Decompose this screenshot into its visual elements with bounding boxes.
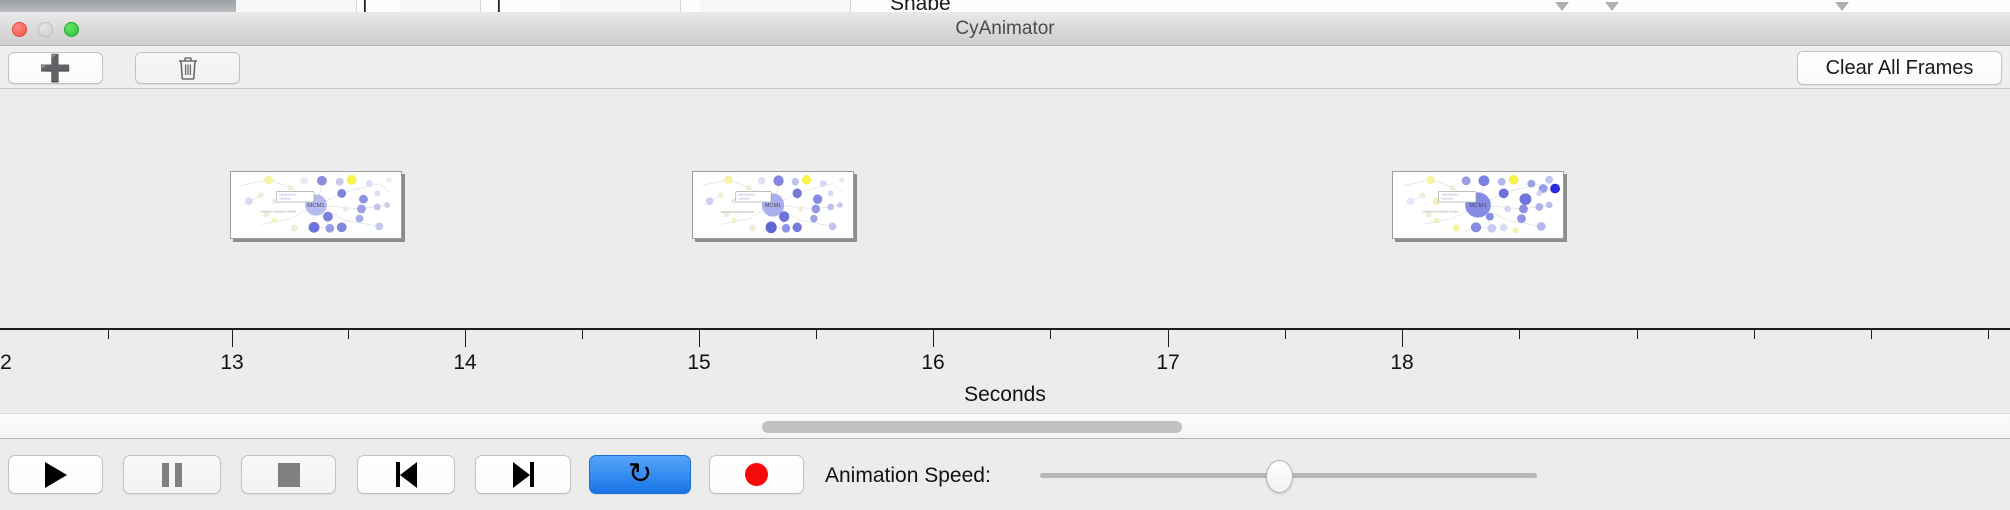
axis-tick-minor [1637,330,1638,339]
background-window-caret-icon [1605,2,1619,11]
svg-text:bbbbbbbb: bbbbbbbb [279,198,291,201]
cyanimator-window: | | Shape CyAnimator ➕ [0,0,2010,510]
record-icon [745,463,768,486]
background-window-glyph: | [362,0,368,10]
svg-text:bbbbbbbb: bbbbbbbb [739,198,750,201]
stop-button[interactable] [241,455,336,494]
window-title: CyAnimator [0,12,2010,46]
axis-tick-major [699,330,700,347]
pause-icon [162,463,182,487]
pause-button[interactable] [123,455,221,494]
scrollbar-thumb[interactable] [762,421,1182,433]
axis-tick-label: 13 [220,351,243,375]
clear-all-frames-label: Clear All Frames [1826,57,1974,80]
axis-tick-label: 14 [453,351,476,375]
axis-tick-label: 2 [0,351,12,375]
background-window-cell [700,0,851,12]
background-window-cell [296,0,357,12]
axis-tick-major [933,330,934,347]
svg-text:bbbbbbbbbbbb: bbbbbbbbbbbb [1441,193,1459,196]
loop-icon: ↻ [628,460,652,489]
axis-title: Seconds [0,383,2010,407]
axis-tick-minor [1285,330,1286,339]
playback-bar: ↻ Animation Speed: [0,439,2010,510]
axis-tick-major [465,330,466,347]
play-button[interactable] [8,455,103,494]
network-preview: bbbbbbbbbbbb bbbbbbbb MCM1 bbbbbbbbb bbb… [231,172,401,238]
axis-tick-label: 15 [687,351,710,375]
timeline-panel[interactable]: bbbbbbbbbbbb bbbbbbbb MCM1 bbbbbbbbb bbb… [0,89,2010,413]
svg-text:bbbbbbbbbbbb: bbbbbbbbbbbb [739,193,756,196]
axis-tick-label: 16 [921,351,944,375]
svg-text:MCM1: MCM1 [765,203,781,209]
svg-text:bbbbbbbb: bbbbbbbb [1441,198,1453,201]
loop-button[interactable]: ↻ [589,455,691,494]
axis-tick-label: 18 [1390,351,1413,375]
svg-text:MCM1: MCM1 [307,203,324,209]
plus-icon: ➕ [39,55,71,81]
timeline-axis [0,328,2010,330]
background-window-cell [236,0,297,12]
toolbar: ➕ Clear All Frames [0,46,2010,89]
play-icon [45,462,67,488]
axis-tick-minor [1871,330,1872,339]
axis-tick-label: 17 [1156,351,1179,375]
axis-tick-minor [582,330,583,339]
stop-icon [278,463,300,487]
slider-thumb[interactable] [1266,460,1293,493]
axis-tick-major [1168,330,1169,347]
background-window-shape-label: Shape [890,0,951,10]
prev-frame-button[interactable] [357,455,455,494]
background-window-glyph: | [496,0,502,10]
skip-back-icon [396,462,417,488]
axis-tick-minor [348,330,349,339]
axis-tick-minor [1050,330,1051,339]
svg-text:MCM1: MCM1 [1469,203,1486,209]
axis-tick-major [232,330,233,347]
svg-text:bbbbbbbbbbbb: bbbbbbbbbbbb [279,193,297,196]
background-window-caret-icon [1835,2,1849,11]
background-window-strip: | | Shape [0,0,2010,12]
network-preview: bbbbbbbbbbbb bbbbbbbb MCM1 bbbbbbbbb bbb… [693,172,853,238]
background-window-cell [400,0,481,12]
animation-speed-label: Animation Speed: [825,464,991,488]
next-frame-button[interactable] [475,455,571,494]
svg-text:bbbbbbbbb bbbbbbbbbb bbbbbbb: bbbbbbbbb bbbbbbbbbb bbbbbbb [721,212,755,214]
add-frame-button[interactable]: ➕ [8,52,103,84]
timeline-frame-thumbnail[interactable]: bbbbbbbbbbbb bbbbbbbb MCM1 bbbbbbbbb bbb… [1392,171,1564,239]
timeline-frame-thumbnail[interactable]: bbbbbbbbbbbb bbbbbbbb MCM1 bbbbbbbbb bbb… [230,171,402,239]
axis-tick-minor [1754,330,1755,339]
axis-tick-major [1402,330,1403,347]
timeline-frame-thumbnail[interactable]: bbbbbbbbbbbb bbbbbbbb MCM1 bbbbbbbbb bbb… [692,171,854,239]
axis-tick-minor [108,330,109,339]
delete-frame-button[interactable] [135,52,240,84]
timeline-scrollbar[interactable] [0,413,2010,439]
background-window-cell [560,0,681,12]
animation-speed-slider[interactable] [1040,473,1537,478]
axis-tick-minor [1519,330,1520,339]
record-button[interactable] [709,455,804,494]
axis-tick-minor [1988,330,1989,339]
background-window-sidebar [0,0,236,12]
title-bar[interactable]: CyAnimator [0,12,2010,46]
svg-text:bbbbbbbbb bbbbbbbbbb bbbbbbb: bbbbbbbbb bbbbbbbbbb bbbbbbb [261,212,297,214]
axis-tick-minor [816,330,817,339]
clear-all-frames-button[interactable]: Clear All Frames [1797,51,2002,85]
skip-forward-icon [513,462,534,488]
background-window-caret-icon [1555,2,1569,11]
trash-icon [177,56,199,80]
svg-text:bbbbbbbbb bbbbbbbbbb bbbbbbb: bbbbbbbbb bbbbbbbbbb bbbbbbb [1423,212,1459,214]
network-preview: bbbbbbbbbbbb bbbbbbbb MCM1 bbbbbbbbb bbb… [1393,172,1563,238]
